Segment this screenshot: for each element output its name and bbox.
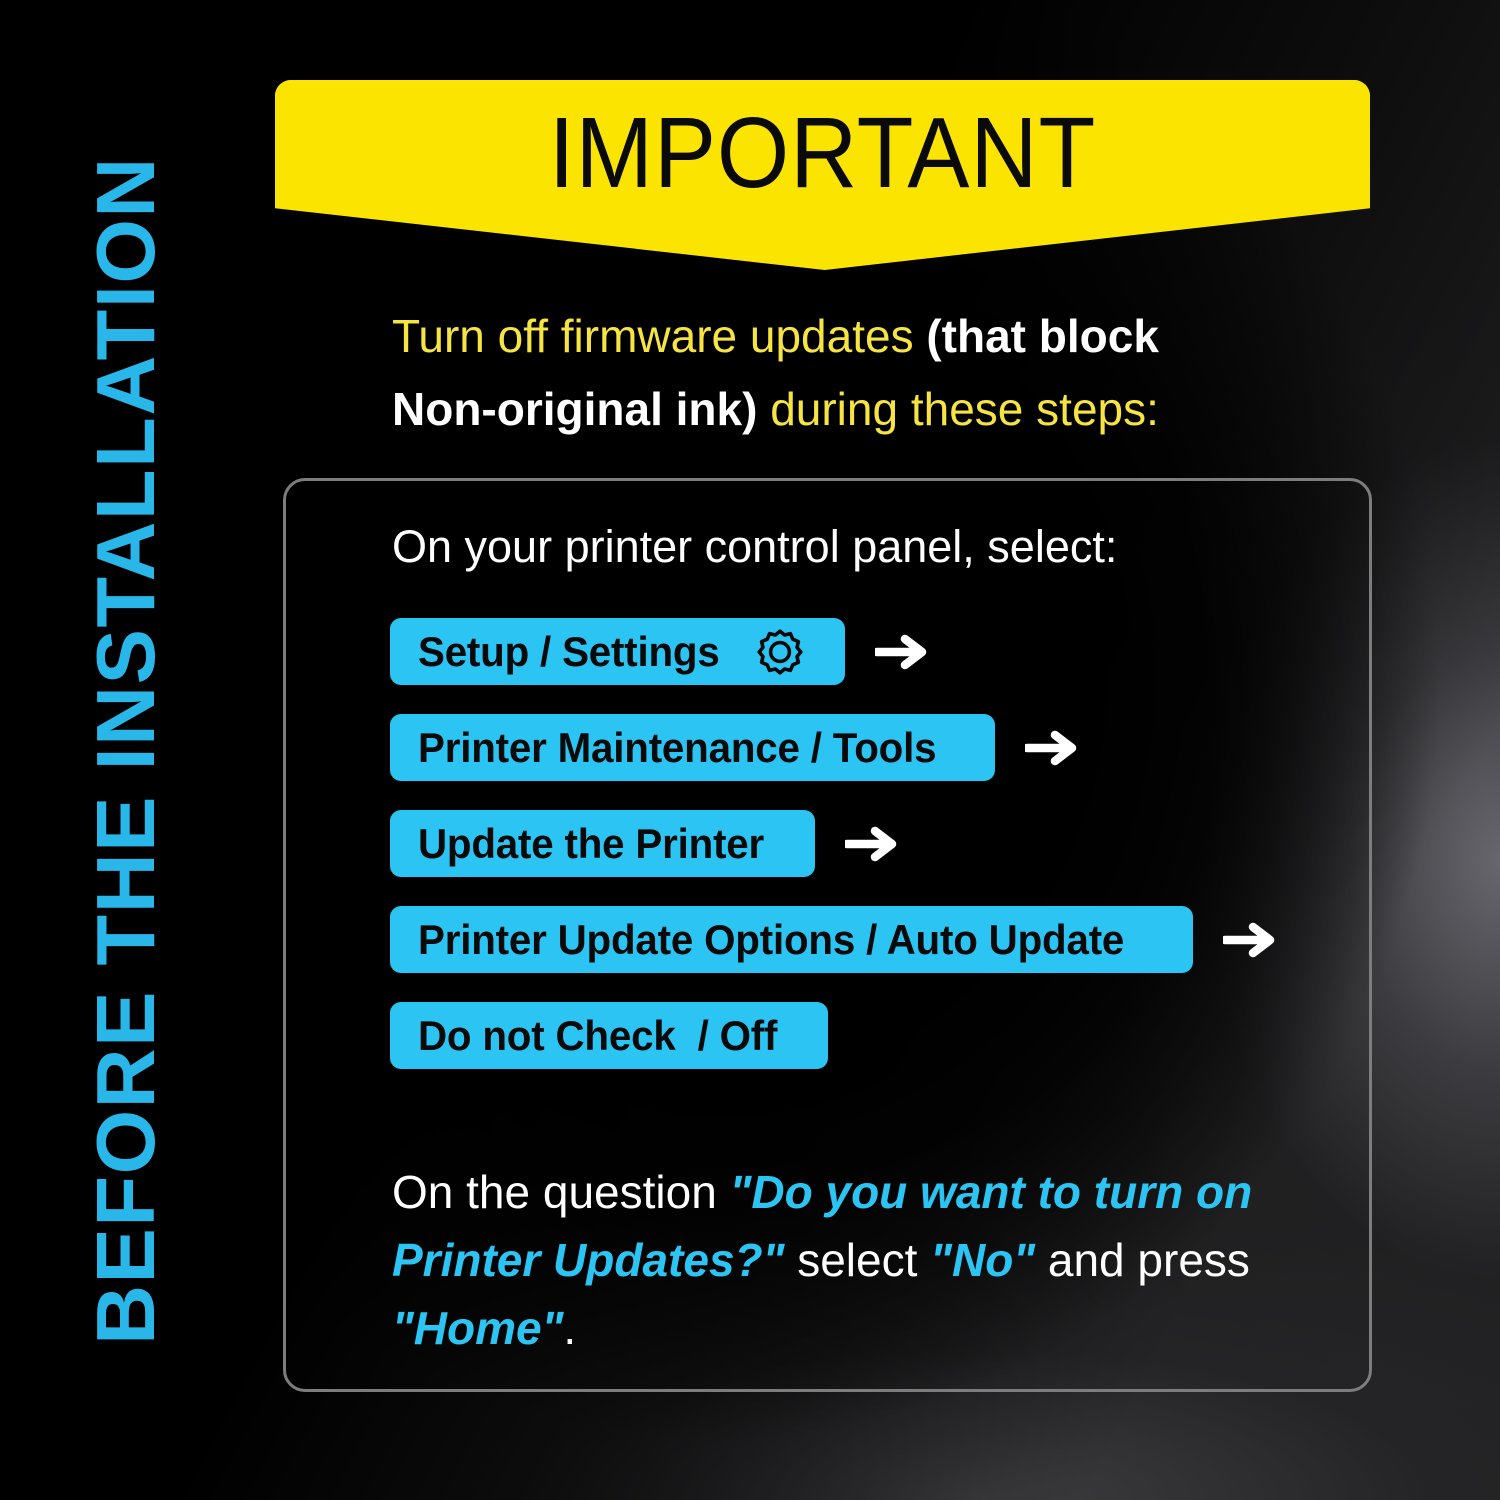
- headline-paragraph: Turn off firmware updates (that block No…: [392, 300, 1222, 445]
- closing-paragraph: On the question "Do you want to turn on …: [392, 1158, 1262, 1362]
- poster-canvas: BEFORE THE INSTALLATION IMPORTANT Turn o…: [0, 0, 1500, 1500]
- arrow-right-icon: [875, 632, 937, 672]
- step-pill-printer-maintenance-tools[interactable]: Printer Maintenance / Tools: [390, 714, 995, 781]
- side-title-container: BEFORE THE INSTALLATION: [0, 0, 250, 1500]
- step-label: Printer Update Options / Auto Update: [418, 919, 1124, 961]
- step-label: Do not Check / Off: [418, 1015, 777, 1057]
- step-pill-setup-settings[interactable]: Setup / Settings: [390, 618, 845, 685]
- step-pill-update-the-printer[interactable]: Update the Printer: [390, 810, 815, 877]
- closing-segment-no: "No": [930, 1234, 1035, 1286]
- headline-segment-yellow-2: during these steps:: [757, 383, 1158, 435]
- step-row: Update the Printer: [390, 810, 1285, 877]
- step-label: Setup / Settings: [418, 631, 720, 673]
- panel-lead-text: On your printer control panel, select:: [392, 520, 1117, 574]
- step-label: Update the Printer: [418, 823, 764, 865]
- closing-segment-3: select: [784, 1234, 930, 1286]
- step-pill-printer-update-options-auto-update[interactable]: Printer Update Options / Auto Update: [390, 906, 1193, 973]
- step-label: Printer Maintenance / Tools: [418, 727, 936, 769]
- step-pill-do-not-check-off[interactable]: Do not Check / Off: [390, 1002, 828, 1069]
- side-title: BEFORE THE INSTALLATION: [84, 156, 167, 1345]
- gear-icon: [754, 626, 806, 678]
- closing-segment-home: "Home": [392, 1302, 563, 1354]
- step-row: Printer Maintenance / Tools: [390, 714, 1285, 781]
- arrow-right-icon: [1025, 728, 1087, 768]
- important-banner: IMPORTANT: [275, 80, 1370, 270]
- step-row: Do not Check / Off: [390, 1002, 1285, 1069]
- arrow-right-icon: [845, 824, 907, 864]
- headline-segment-yellow-1: Turn off firmware updates: [392, 310, 926, 362]
- banner-label: IMPORTANT: [313, 98, 1331, 208]
- closing-segment-5: and press: [1035, 1234, 1250, 1286]
- closing-segment-1: On the question: [392, 1166, 730, 1218]
- step-row: Printer Update Options / Auto Update: [390, 906, 1285, 973]
- step-row: Setup / Settings: [390, 618, 1285, 685]
- arrow-right-icon: [1223, 920, 1285, 960]
- closing-segment-7: .: [563, 1302, 576, 1354]
- steps-list: Setup / Settings Printe: [390, 618, 1285, 1098]
